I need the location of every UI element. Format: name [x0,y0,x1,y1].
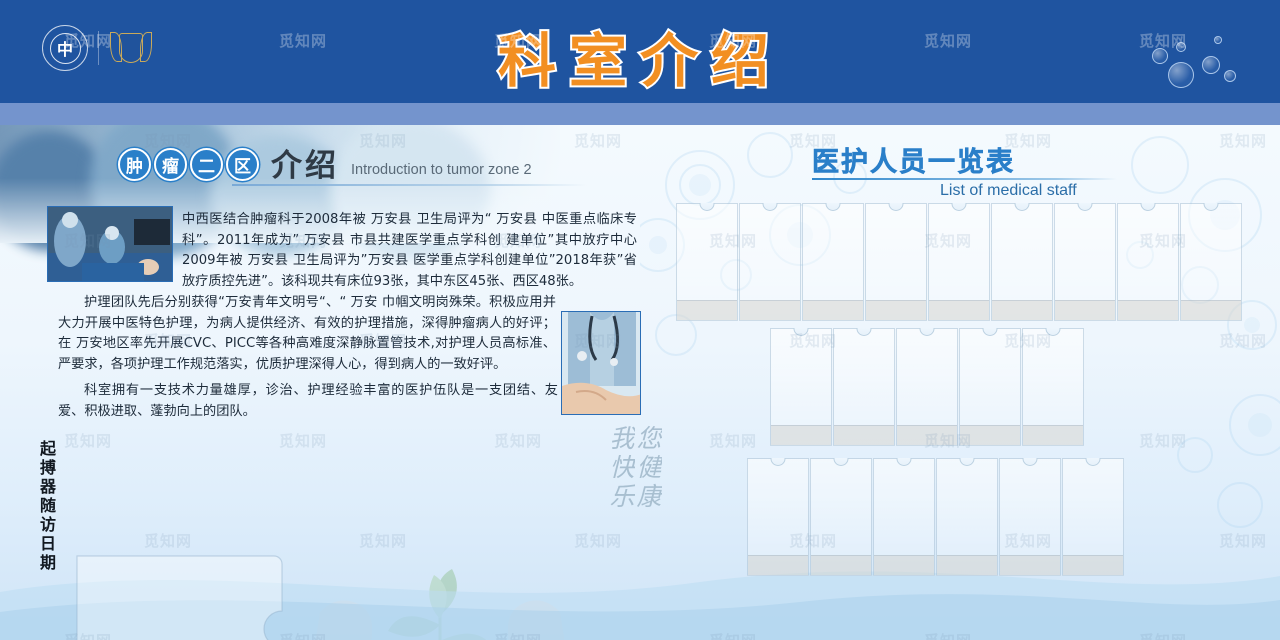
staff-photo-slot[interactable] [1062,458,1124,576]
molecule-bubbles-icon [1150,22,1260,92]
slot-name-band [929,300,989,320]
slot-notch-icon [983,328,998,336]
staff-photo-slot[interactable] [999,458,1061,576]
staff-photo-slot[interactable] [991,203,1053,321]
staff-photo-slot[interactable] [833,328,895,446]
slot-notch-icon [771,458,786,466]
slot-notch-icon [1015,203,1030,211]
staff-heading-cn: 医护人员一览表 [812,140,1015,179]
slot-notch-icon [794,328,809,336]
slot-name-band [1063,555,1123,575]
staff-photo-slot[interactable] [896,328,958,446]
slot-notch-icon [1204,203,1219,211]
slot-name-band [1181,300,1241,320]
slot-notch-icon [826,203,841,211]
slot-notch-icon [952,203,967,211]
slot-name-band [771,425,831,445]
staff-photo-slot[interactable] [1117,203,1179,321]
chip-liu: 瘤 [154,148,187,181]
staff-photo-slot[interactable] [865,203,927,321]
slot-name-band [1118,300,1178,320]
intro-paragraph-2: 护理团队先后分别获得“万安青年文明号“、“ 万安 巾帼文明岗殊荣。积极应用并大力… [58,293,556,375]
staff-photo-slot[interactable] [739,203,801,321]
staff-photo-slot[interactable] [1054,203,1116,321]
slot-notch-icon [763,203,778,211]
slot-notch-icon [1086,458,1101,466]
slot-notch-icon [857,328,872,336]
slot-notch-icon [834,458,849,466]
slot-name-band [937,555,997,575]
slot-notch-icon [1141,203,1156,211]
slot-notch-icon [1023,458,1038,466]
slot-name-band [677,300,737,320]
pacemaker-followup-label: 起搏器随访日期 [34,440,56,573]
staff-heading-underline [812,178,1117,180]
intro-paragraph-1: 中西医结合肿瘤科于2008年被 万安县 卫生局评为“ 万安县 中医重点临床专科”… [182,210,637,292]
calligraphy-decor: 您健康 我快乐 [590,425,660,595]
staff-card-row-3 [747,458,1124,576]
slot-notch-icon [920,328,935,336]
page-title-text: 科室介绍 [498,27,782,95]
slot-name-band [811,555,871,575]
staff-photo-slot[interactable] [959,328,1021,446]
staff-card-row-2 [770,328,1084,446]
slot-notch-icon [889,203,904,211]
staff-photo-slot[interactable] [770,328,832,446]
slot-name-band [803,300,863,320]
staff-photo-slot[interactable] [810,458,872,576]
slot-name-band [992,300,1052,320]
staff-photo-slot[interactable] [928,203,990,321]
intro-heading-en: Introduction to tumor zone 2 [351,162,532,181]
poster-board: 中 科室介绍 [0,0,1280,640]
header-accent-strip [0,103,1280,125]
chip-qu: 区 [226,148,259,181]
intro-heading-cn: 介绍 [271,152,339,181]
intro-section-heading: 肿 瘤 二 区 介绍 Introduction to tumor zone 2 [118,148,532,181]
calligraphy-line-1: 您健康 [634,425,660,595]
slot-name-band [1055,300,1115,320]
slot-name-band [960,425,1020,445]
slot-notch-icon [1078,203,1093,211]
operating-room-photo [47,206,173,282]
calligraphy-line-2: 我快乐 [607,425,633,595]
chip-zhong: 肿 [118,148,151,181]
slot-name-band [748,555,808,575]
header-bar: 中 科室介绍 [0,0,1280,103]
staff-photo-slot[interactable] [936,458,998,576]
slot-name-band [866,300,926,320]
chip-er: 二 [190,148,223,181]
slot-notch-icon [960,458,975,466]
staff-photo-slot[interactable] [747,458,809,576]
slot-name-band [897,425,957,445]
slot-name-band [740,300,800,320]
slot-name-band [834,425,894,445]
slot-name-band [874,555,934,575]
staff-photo-slot[interactable] [1022,328,1084,446]
slot-notch-icon [897,458,912,466]
staff-photo-slot[interactable] [676,203,738,321]
slot-notch-icon [700,203,715,211]
large-card-holder[interactable] [76,555,304,640]
page-title: 科室介绍 [0,14,1280,98]
staff-card-row-1 [676,203,1242,321]
staff-photo-slot[interactable] [873,458,935,576]
staff-section-heading: 医护人员一览表 [812,140,1015,179]
slot-notch-icon [1046,328,1061,336]
slot-name-band [1000,555,1060,575]
intro-heading-underline [232,184,587,186]
nurse-with-stethoscope-photo [561,311,641,415]
slot-name-band [1023,425,1083,445]
staff-photo-slot[interactable] [1180,203,1242,321]
intro-paragraph-3: 科室拥有一支技术力量雄厚，诊治、护理经验丰富的医护伍队是一支团结、友爱、积极进取… [58,381,558,422]
staff-photo-slot[interactable] [802,203,864,321]
staff-heading-en: List of medical staff [940,182,1077,200]
